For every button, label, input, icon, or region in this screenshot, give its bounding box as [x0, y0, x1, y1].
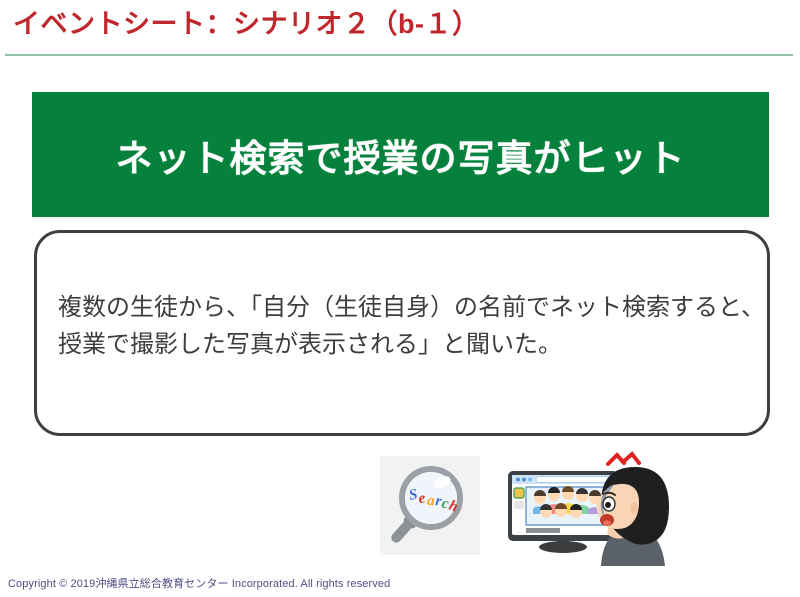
magnifier-icon: S e a r c h: [380, 456, 480, 555]
shocked-person-monitor-illustration: [497, 448, 675, 566]
footer-copyright: Copyright © 2019沖縄県立総合教育センター Incorporate…: [8, 575, 390, 591]
description-line-2: 授業で撮影した写真が表示される」と聞いた。: [58, 326, 748, 363]
search-magnifier-illustration: S e a r c h: [380, 456, 480, 555]
description-line-1: 複数の生徒から、「自分（生徒自身）の名前でネット検索すると、: [58, 289, 748, 326]
page-title: イベントシート：シナリオ２（b-１）: [13, 8, 479, 40]
headline-banner-text: ネット検索で授業の写真がヒット: [116, 128, 686, 182]
description-box: 複数の生徒から、「自分（生徒自身）の名前でネット検索すると、 授業で撮影した写真…: [34, 230, 770, 436]
description-text: 複数の生徒から、「自分（生徒自身）の名前でネット検索すると、 授業で撮影した写真…: [58, 289, 748, 363]
headline-banner: ネット検索で授業の写真がヒット: [32, 92, 769, 217]
person-and-monitor-icon: [497, 448, 675, 566]
title-divider: [5, 54, 793, 56]
